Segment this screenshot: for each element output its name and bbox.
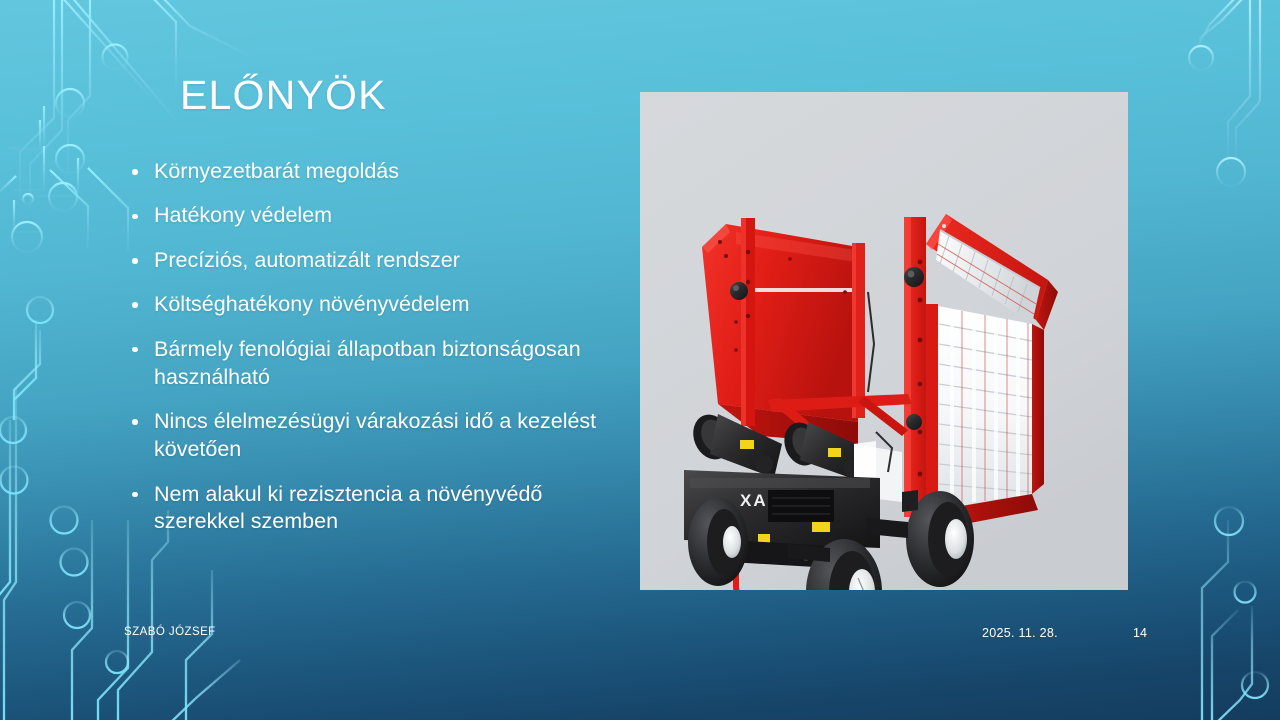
bullet-list: Környezetbarát megoldás Hatékony védelem… xyxy=(128,158,620,553)
circuit-node-group-top-right xyxy=(1189,46,1245,186)
circuit-node-group-top-left xyxy=(12,45,128,253)
circuit-node-icon xyxy=(1215,507,1243,535)
circuit-node-icon xyxy=(12,222,42,252)
list-item-text: Környezetbarát megoldás xyxy=(154,159,399,183)
list-item: Precíziós, automatizált rendszer xyxy=(128,247,620,275)
list-item-text: Bármely fenológiai állapotban biztonságo… xyxy=(154,337,581,389)
list-item: Nincs élelmezésügyi várakozási idő a kez… xyxy=(128,408,620,464)
footer-date: 2025. 11. 28. xyxy=(982,626,1058,640)
circuit-node-icon xyxy=(51,507,78,534)
bullet-dot-icon xyxy=(132,492,138,498)
circuit-node-icon xyxy=(1,467,28,494)
circuit-node-icon xyxy=(56,89,84,117)
list-item: Környezetbarát megoldás xyxy=(128,158,620,186)
circuit-node-icon xyxy=(49,183,77,211)
bullet-dot-icon xyxy=(132,302,138,308)
machine-right-mast xyxy=(904,217,926,517)
circuit-node-icon xyxy=(1189,46,1213,70)
list-item-text: Nem alakul ki rezisztencia a növényvédő … xyxy=(154,482,542,534)
bullet-dot-icon xyxy=(132,214,138,220)
circuit-node-icon xyxy=(1242,672,1268,698)
circuit-node-icon xyxy=(0,417,26,443)
list-item: Hatékony védelem xyxy=(128,202,620,230)
slide-title: ELŐNYÖK xyxy=(180,72,387,119)
xag-machine-illustration: XAG xyxy=(640,92,1128,590)
circuit-node-icon xyxy=(27,297,53,323)
list-item: Bármely fenológiai állapotban biztonságo… xyxy=(128,336,620,392)
circuit-node-group-bottom-left xyxy=(0,297,128,673)
machine-center-mast xyxy=(852,243,865,418)
circuit-node-icon xyxy=(56,145,84,173)
circuit-node-icon xyxy=(103,45,128,70)
circuit-node-group-bottom-right xyxy=(1215,507,1268,698)
circuit-node-icon xyxy=(61,549,88,576)
footer-author: SZABÓ JÓZSEF xyxy=(124,626,216,638)
circuit-trace-group-top-right xyxy=(1198,0,1276,160)
presentation-slide: ELŐNYÖK Környezetbarát megoldás Hatékony… xyxy=(0,0,1280,720)
bullet-dot-icon xyxy=(132,258,138,264)
list-item-text: Hatékony védelem xyxy=(154,203,332,227)
circuit-node-icon xyxy=(23,194,33,204)
circuit-node-icon xyxy=(1217,158,1245,186)
circuit-node-icon xyxy=(106,651,128,673)
list-item: Költséghatékony növényvédelem xyxy=(128,291,620,319)
circuit-node-icon xyxy=(1235,582,1256,603)
bullet-dot-icon xyxy=(132,347,138,353)
list-item-text: Költséghatékony növényvédelem xyxy=(154,292,470,316)
circuit-trace-group-bottom-right xyxy=(1202,520,1276,720)
circuit-node-icon xyxy=(64,602,90,628)
bullet-dot-icon xyxy=(132,419,138,425)
slide-image: XAG xyxy=(640,92,1128,590)
bullet-dot-icon xyxy=(132,169,138,175)
machine-wheel-front-left xyxy=(688,498,748,586)
footer-page-number: 14 xyxy=(1133,626,1147,640)
list-item-text: Nincs élelmezésügyi várakozási idő a kez… xyxy=(154,409,596,461)
list-item: Nem alakul ki rezisztencia a növényvédő … xyxy=(128,481,620,537)
list-item-text: Precíziós, automatizált rendszer xyxy=(154,248,460,272)
